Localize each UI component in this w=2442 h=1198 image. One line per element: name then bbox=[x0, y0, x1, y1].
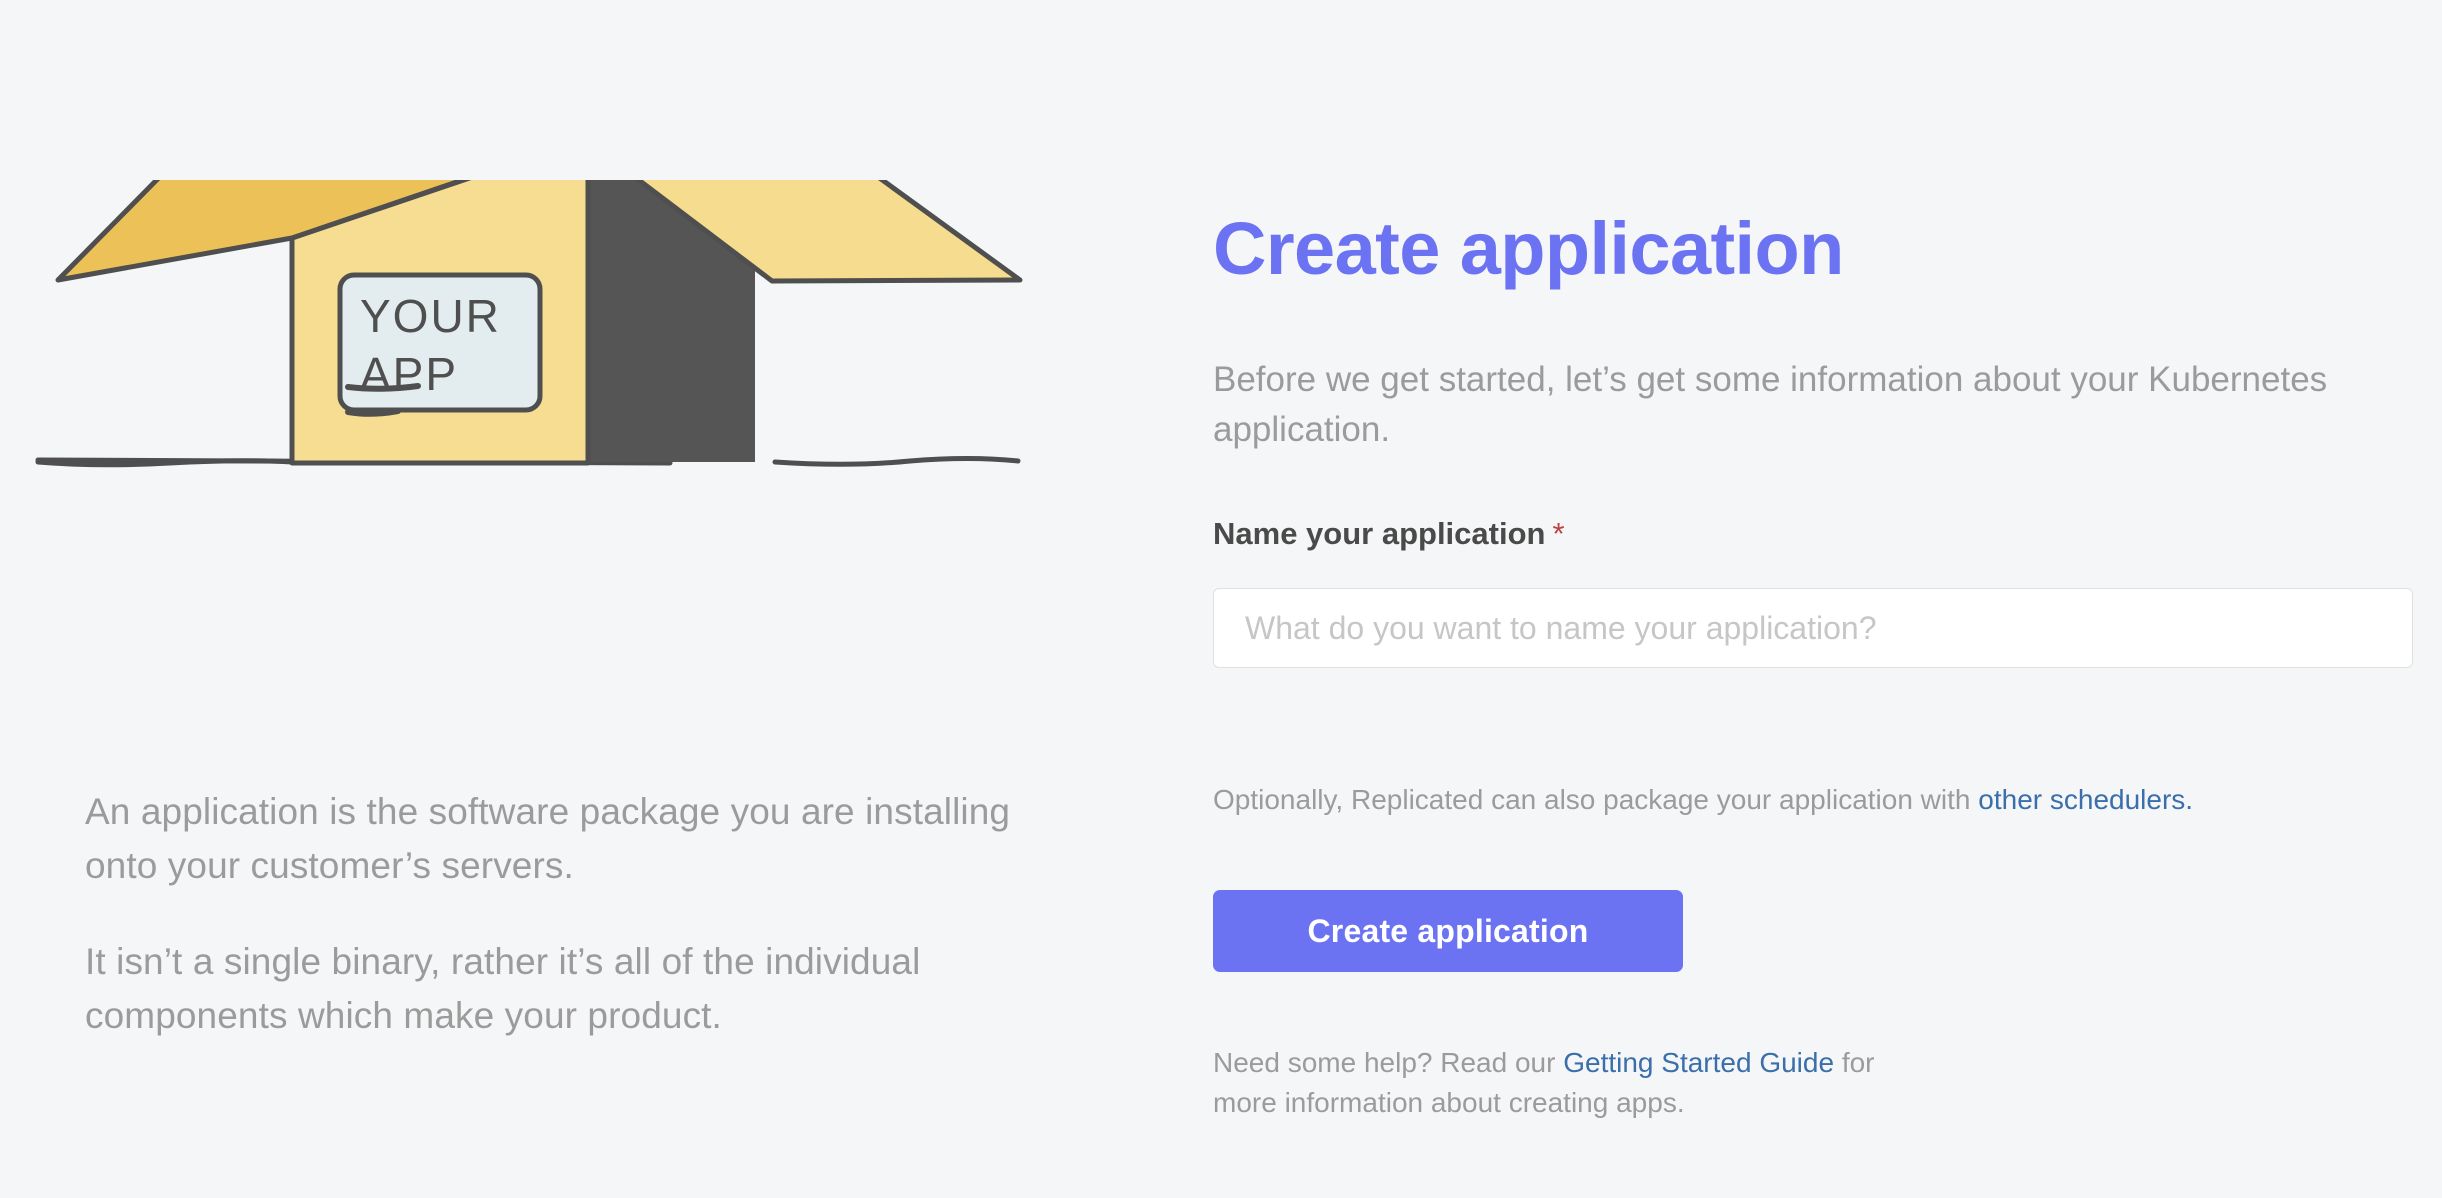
other-schedulers-note-prefix: Optionally, Replicated can also package … bbox=[1213, 784, 1978, 815]
left-info-column: YOUR APP An application is the software … bbox=[0, 0, 1120, 1198]
cardboard-box-illustration: YOUR APP bbox=[30, 180, 1040, 740]
other-schedulers-note: Optionally, Replicated can also package … bbox=[1213, 780, 2193, 819]
help-text-prefix: Need some help? Read our bbox=[1213, 1047, 1563, 1078]
left-paragraph-2: It isn’t a single binary, rather it’s al… bbox=[85, 935, 1015, 1043]
application-name-input[interactable] bbox=[1213, 588, 2413, 668]
other-schedulers-link[interactable]: other schedulers bbox=[1978, 784, 2185, 815]
other-schedulers-note-suffix: . bbox=[2185, 784, 2193, 815]
name-field-label: Name your application* bbox=[1213, 516, 1565, 552]
required-asterisk: * bbox=[1552, 516, 1564, 551]
create-application-form-column: Create application Before we get started… bbox=[1213, 0, 2423, 1198]
getting-started-guide-link[interactable]: Getting Started Guide bbox=[1563, 1047, 1834, 1078]
box-label-line-2: APP bbox=[360, 348, 458, 400]
page-subtitle: Before we get started, let’s get some in… bbox=[1213, 355, 2393, 456]
name-field-label-text: Name your application bbox=[1213, 516, 1545, 551]
create-application-page: YOUR APP An application is the software … bbox=[0, 0, 2442, 1198]
left-description-block: An application is the software package y… bbox=[85, 785, 1015, 1043]
left-paragraph-1: An application is the software package y… bbox=[85, 785, 1015, 893]
help-text: Need some help? Read our Getting Started… bbox=[1213, 1043, 1913, 1123]
box-label-line-1: YOUR bbox=[360, 290, 501, 342]
create-application-button[interactable]: Create application bbox=[1213, 890, 1683, 972]
page-title: Create application bbox=[1213, 212, 1844, 286]
